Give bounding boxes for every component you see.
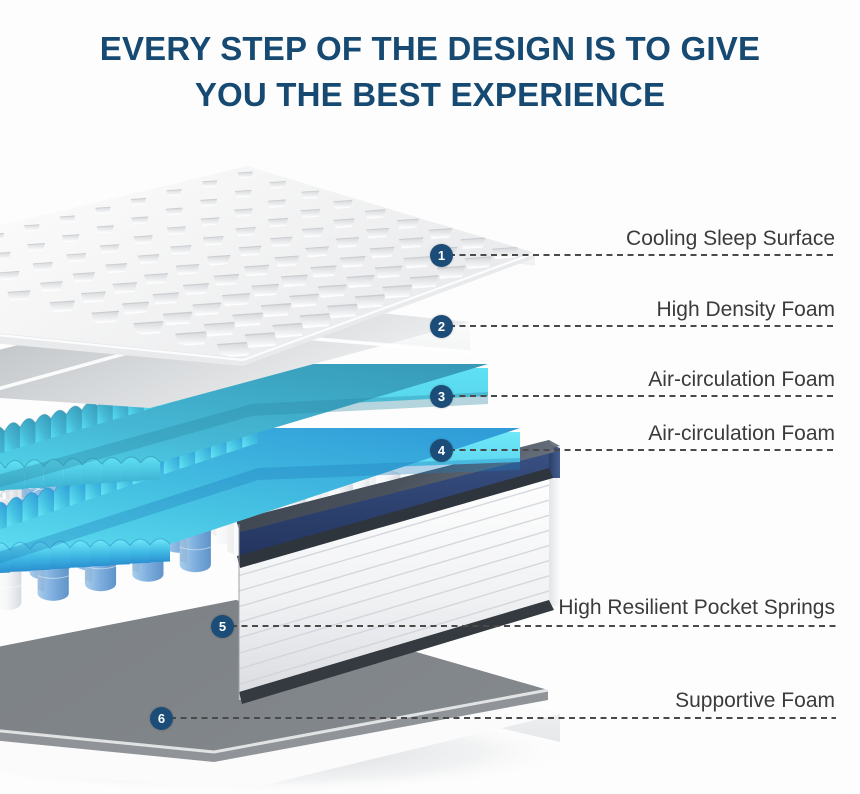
quilt-dimple — [105, 264, 127, 273]
quilt-dimple — [397, 219, 419, 228]
quilt-dimple — [410, 276, 439, 288]
quilt-dimple — [382, 285, 412, 298]
quilt-dimple — [176, 264, 199, 274]
quilt-dimple — [336, 238, 359, 248]
quilt-dimple — [281, 275, 308, 286]
quilt-dimple — [268, 218, 288, 226]
layer-label-air-circulation-foam-upper: Air-circulation Foam — [648, 368, 835, 392]
quilt-dimple — [183, 284, 209, 295]
quilt-dimple — [244, 265, 269, 276]
quilt-dimple — [355, 295, 385, 308]
quilt-dimple — [204, 322, 236, 335]
quilt-dimple — [460, 238, 485, 249]
quilt-dimple — [207, 255, 230, 265]
quilt-dimple — [200, 199, 217, 206]
quilt-dimple — [365, 210, 386, 219]
quilt-dimple — [167, 190, 182, 196]
quilt-dimple — [222, 294, 250, 306]
quilt-dimple — [153, 293, 179, 304]
quilt-dimple — [340, 256, 365, 267]
quilt-dimple — [33, 262, 53, 270]
quilt-dimple — [333, 219, 354, 228]
quilt-dimple — [97, 226, 114, 233]
quilt-dimple — [100, 245, 119, 253]
quilt-dimple — [144, 274, 168, 284]
quilt-dimple — [333, 200, 352, 208]
quilt-dimple — [122, 302, 149, 313]
layer-label-air-circulation-foam-lower: Air-circulation Foam — [648, 422, 835, 446]
quilt-dimple — [275, 256, 299, 266]
quilt-dimple — [238, 172, 253, 178]
quilt-dimple — [234, 209, 252, 217]
quilt-dimple — [62, 235, 79, 242]
quilt-dimple — [203, 236, 224, 245]
quilt-dimple — [245, 333, 279, 347]
quilt-dimple — [170, 245, 191, 254]
quilt-dimple — [465, 257, 492, 268]
quilt-dimple — [272, 323, 305, 337]
quilt-dimple — [81, 292, 106, 302]
quilt-dimple — [236, 227, 256, 236]
quilt-dimple — [270, 237, 292, 246]
quilt-dimple — [437, 266, 465, 278]
quilt-dimple — [429, 229, 452, 239]
quilt-dimple — [301, 209, 321, 217]
quilt-dimple — [166, 208, 183, 215]
quilt-dimple — [214, 274, 239, 285]
quilt-dimple — [131, 198, 146, 204]
layer-badge-3[interactable]: 3 — [430, 385, 453, 408]
quilt-dimple — [366, 228, 389, 238]
quilt-dimple — [301, 191, 319, 199]
layer-badge-1[interactable]: 1 — [430, 244, 453, 267]
quilt-dimple — [217, 342, 252, 357]
quilt-dimple — [66, 253, 86, 261]
quilt-dimple — [492, 247, 518, 258]
quilt-dimple — [138, 254, 159, 263]
quilt-dimple — [252, 284, 279, 296]
layer-badge-2[interactable]: 2 — [430, 315, 453, 338]
layer-badge-4[interactable]: 4 — [430, 439, 453, 462]
quilt-dimple — [318, 285, 347, 297]
layer-label-cooling-sleep-surface: Cooling Sleep Surface — [626, 227, 835, 251]
quilt-dimple — [346, 275, 374, 287]
quilt-dimple — [167, 227, 186, 235]
quilt-dimple — [202, 181, 217, 187]
quilt-dimple — [27, 243, 44, 250]
quilt-dimple — [399, 238, 423, 248]
quilt-dimple — [261, 304, 291, 317]
quilt-dimple — [192, 303, 221, 315]
quilt-dimple — [95, 207, 110, 213]
quilt-dimple — [270, 181, 286, 188]
quilt-dimple — [175, 332, 207, 346]
quilt-dimple — [268, 200, 286, 208]
quilt-dimple — [235, 190, 252, 197]
quilt-dimple — [239, 246, 261, 256]
quilt-dimple — [375, 266, 402, 277]
quilt-dimple — [134, 236, 153, 244]
quilt-dimple — [311, 266, 337, 277]
quilt-dimple — [232, 313, 263, 326]
layer-label-supportive-foam: Supportive Foam — [675, 689, 835, 713]
quilt-dimple — [92, 311, 120, 323]
quilt-dimple — [24, 225, 39, 231]
layer-label-high-density-foam: High Density Foam — [656, 298, 835, 322]
quilt-dimple — [0, 271, 19, 280]
layer-badge-5[interactable]: 5 — [211, 615, 234, 638]
quilt-dimple — [289, 294, 318, 306]
quilt-dimple — [60, 216, 75, 222]
layer-badge-6[interactable]: 6 — [150, 707, 173, 730]
quilt-dimple — [113, 283, 137, 293]
quilt-dimple — [131, 217, 148, 224]
quilt-dimple — [370, 247, 395, 257]
quilt-dimple — [302, 228, 324, 237]
quilt-dimple — [133, 322, 163, 335]
quilt-dimple — [300, 314, 332, 328]
quilt-dimple — [40, 282, 62, 291]
quilt-dimple — [73, 273, 95, 282]
quilt-dimple — [50, 301, 75, 312]
quilt-dimple — [305, 247, 329, 257]
quilt-dimple — [201, 218, 220, 226]
quilt-dimple — [404, 257, 430, 268]
infographic-canvas: EVERY STEP OF THE DESIGN IS TO GIVE YOU … — [0, 0, 860, 794]
quilt-dimple — [8, 291, 31, 301]
layer-label-pocket-springs: High Resilient Pocket Springs — [558, 596, 835, 620]
quilt-dimple — [327, 304, 358, 317]
quilt-dimple — [163, 312, 192, 324]
